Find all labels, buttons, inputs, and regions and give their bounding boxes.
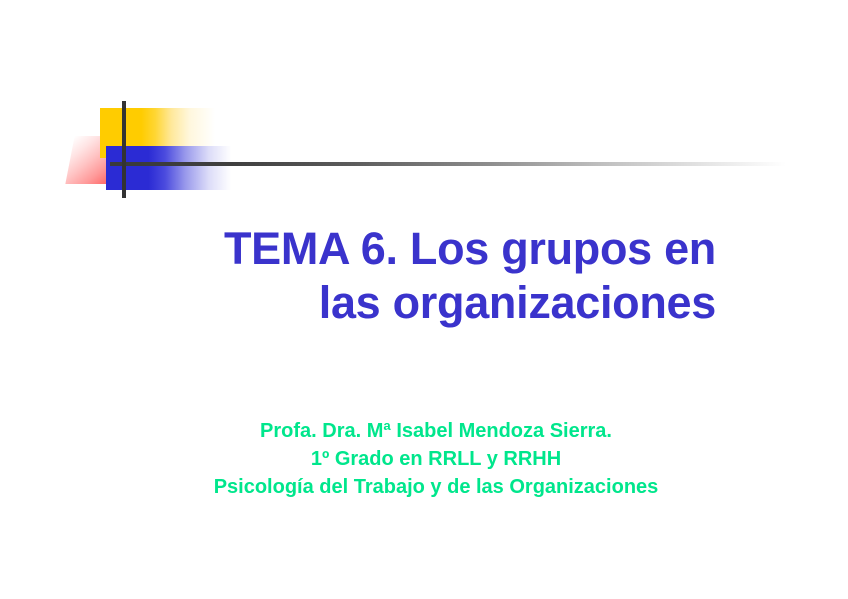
subtitle-line-degree: 1º Grado en RRLL y RRHH [60, 445, 812, 473]
slide-title: TEMA 6. Los grupos en las organizaciones [60, 222, 716, 330]
subtitle-line-author: Profa. Dra. Mª Isabel Mendoza Sierra. [60, 417, 812, 445]
title-line-2: las organizaciones [60, 276, 716, 330]
presentation-slide: TEMA 6. Los grupos en las organizaciones… [0, 0, 848, 599]
slide-subtitle: Profa. Dra. Mª Isabel Mendoza Sierra. 1º… [60, 417, 812, 501]
subtitle-line-course: Psicología del Trabajo y de las Organiza… [60, 473, 812, 501]
vertical-rule-line [122, 101, 126, 198]
decorative-office-logo [62, 96, 762, 206]
title-line-1: TEMA 6. Los grupos en [60, 222, 716, 276]
horizontal-rule-line [110, 162, 786, 166]
